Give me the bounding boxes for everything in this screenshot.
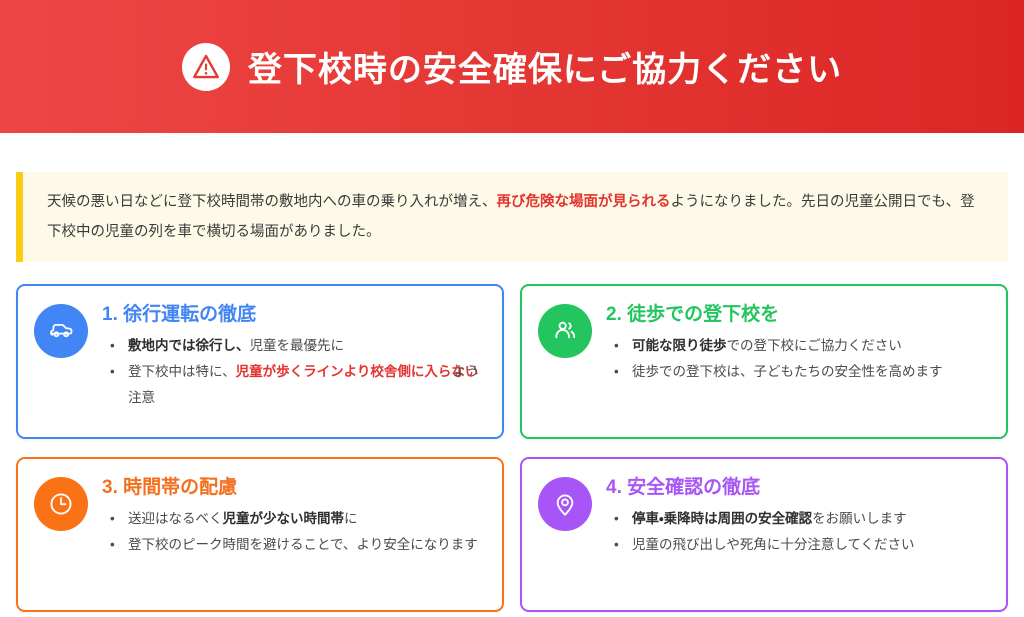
location-pin-icon xyxy=(538,477,592,531)
list-item: 停車・乗降時は周囲の安全確認をお願いします xyxy=(606,506,990,532)
page-content: 天候の悪い日などに登下校時間帯の敷地内への車の乗り入れが増え、再び危険な場面が見… xyxy=(0,133,1024,612)
notice-highlight: 再び危険な場面が見られる xyxy=(497,194,671,210)
people-icon xyxy=(538,304,592,358)
card-bullet-list: 可能な限り徒歩での登下校にご協力ください 徒歩での登下校は、子どもたちの安全性を… xyxy=(606,333,990,386)
card-title: 4. 安全確認の徹底 xyxy=(606,475,990,501)
bullet-bold-text: 児童が少ない時間帯 xyxy=(223,511,345,526)
card-time-consideration: 3. 時間帯の配慮 送迎はなるべく児童が少ない時間帯に 登下校のピーク時間を避け… xyxy=(16,457,504,612)
card-slow-driving: 1. 徐行運転の徹底 敷地内では徐行し、児童を最優先に 登下校中は特に、児童が歩… xyxy=(16,284,504,439)
list-item: 可能な限り徒歩での登下校にご協力ください xyxy=(606,333,990,359)
car-icon xyxy=(34,304,88,358)
card-body: 3. 時間帯の配慮 送迎はなるべく児童が少ない時間帯に 登下校のピーク時間を避け… xyxy=(102,475,486,594)
page-banner: 登下校時の安全確保にご協力ください xyxy=(0,0,1024,133)
safety-points-grid: 1. 徐行運転の徹底 敷地内では徐行し、児童を最優先に 登下校中は特に、児童が歩… xyxy=(16,284,1008,612)
list-item: 登下校中は特に、児童が歩くラインより校舎側に入らないよう注意 xyxy=(102,359,486,412)
bullet-text: 登下校中は特に、 xyxy=(128,364,236,379)
bullet-bold-text: 可能な限り徒歩 xyxy=(632,338,727,353)
card-title: 1. 徐行運転の徹底 xyxy=(102,302,486,328)
card-title: 2. 徒歩での登下校を xyxy=(606,302,990,328)
card-body: 4. 安全確認の徹底 停車・乗降時は周囲の安全確認をお願いします 児童の飛び出し… xyxy=(606,475,990,594)
bullet-bold-text: 敷地内では徐行し、 xyxy=(128,338,250,353)
alert-notice: 天候の悪い日などに登下校時間帯の敷地内への車の乗り入れが増え、再び危険な場面が見… xyxy=(16,172,1008,262)
card-bullet-list: 停車・乗降時は周囲の安全確認をお願いします 児童の飛び出しや死角に十分注意してく… xyxy=(606,506,990,559)
card-body: 1. 徐行運転の徹底 敷地内では徐行し、児童を最優先に 登下校中は特に、児童が歩… xyxy=(102,302,486,421)
warning-triangle-icon xyxy=(182,43,230,91)
bullet-text: 徒歩での登下校は、子どもたちの安全性を高めます xyxy=(632,364,943,379)
bullet-text: 児童を最優先に xyxy=(250,338,345,353)
bullet-bold-text: 停車・乗降時は周囲の安全確認 xyxy=(632,511,812,526)
bullet-highlight-text: 児童が歩くラインより校舎側に入らない xyxy=(236,364,479,379)
card-bullet-list: 敷地内では徐行し、児童を最優先に 登下校中は特に、児童が歩くラインより校舎側に入… xyxy=(102,333,486,412)
list-item: 徒歩での登下校は、子どもたちの安全性を高めます xyxy=(606,359,990,385)
card-walking-to-school: 2. 徒歩での登下校を 可能な限り徒歩での登下校にご協力ください 徒歩での登下校… xyxy=(520,284,1008,439)
bullet-text-tail: に xyxy=(344,511,358,526)
list-item: 送迎はなるべく児童が少ない時間帯に xyxy=(102,506,486,532)
notice-text-part-1: 天候の悪い日などに登下校時間帯の敷地内への車の乗り入れが増え、 xyxy=(47,194,497,210)
bullet-text: 登下校のピーク時間を避けることで、より安全になります xyxy=(128,537,478,552)
card-title: 3. 時間帯の配慮 xyxy=(102,475,486,501)
bullet-text: での登下校にご協力ください xyxy=(727,338,902,353)
list-item: 児童の飛び出しや死角に十分注意してください xyxy=(606,532,990,558)
card-body: 2. 徒歩での登下校を 可能な限り徒歩での登下校にご協力ください 徒歩での登下校… xyxy=(606,302,990,421)
list-item: 登下校のピーク時間を避けることで、より安全になります xyxy=(102,532,486,558)
clock-icon xyxy=(34,477,88,531)
page-title: 登下校時の安全確保にご協力ください xyxy=(248,42,842,91)
bullet-text: 児童の飛び出しや死角に十分注意してください xyxy=(632,537,915,552)
bullet-text: をお願いします xyxy=(812,511,907,526)
card-safety-confirmation: 4. 安全確認の徹底 停車・乗降時は周囲の安全確認をお願いします 児童の飛び出し… xyxy=(520,457,1008,612)
list-item: 敷地内では徐行し、児童を最優先に xyxy=(102,333,486,359)
bullet-text: 送迎はなるべく xyxy=(128,511,223,526)
card-bullet-list: 送迎はなるべく児童が少ない時間帯に 登下校のピーク時間を避けることで、より安全に… xyxy=(102,506,486,559)
